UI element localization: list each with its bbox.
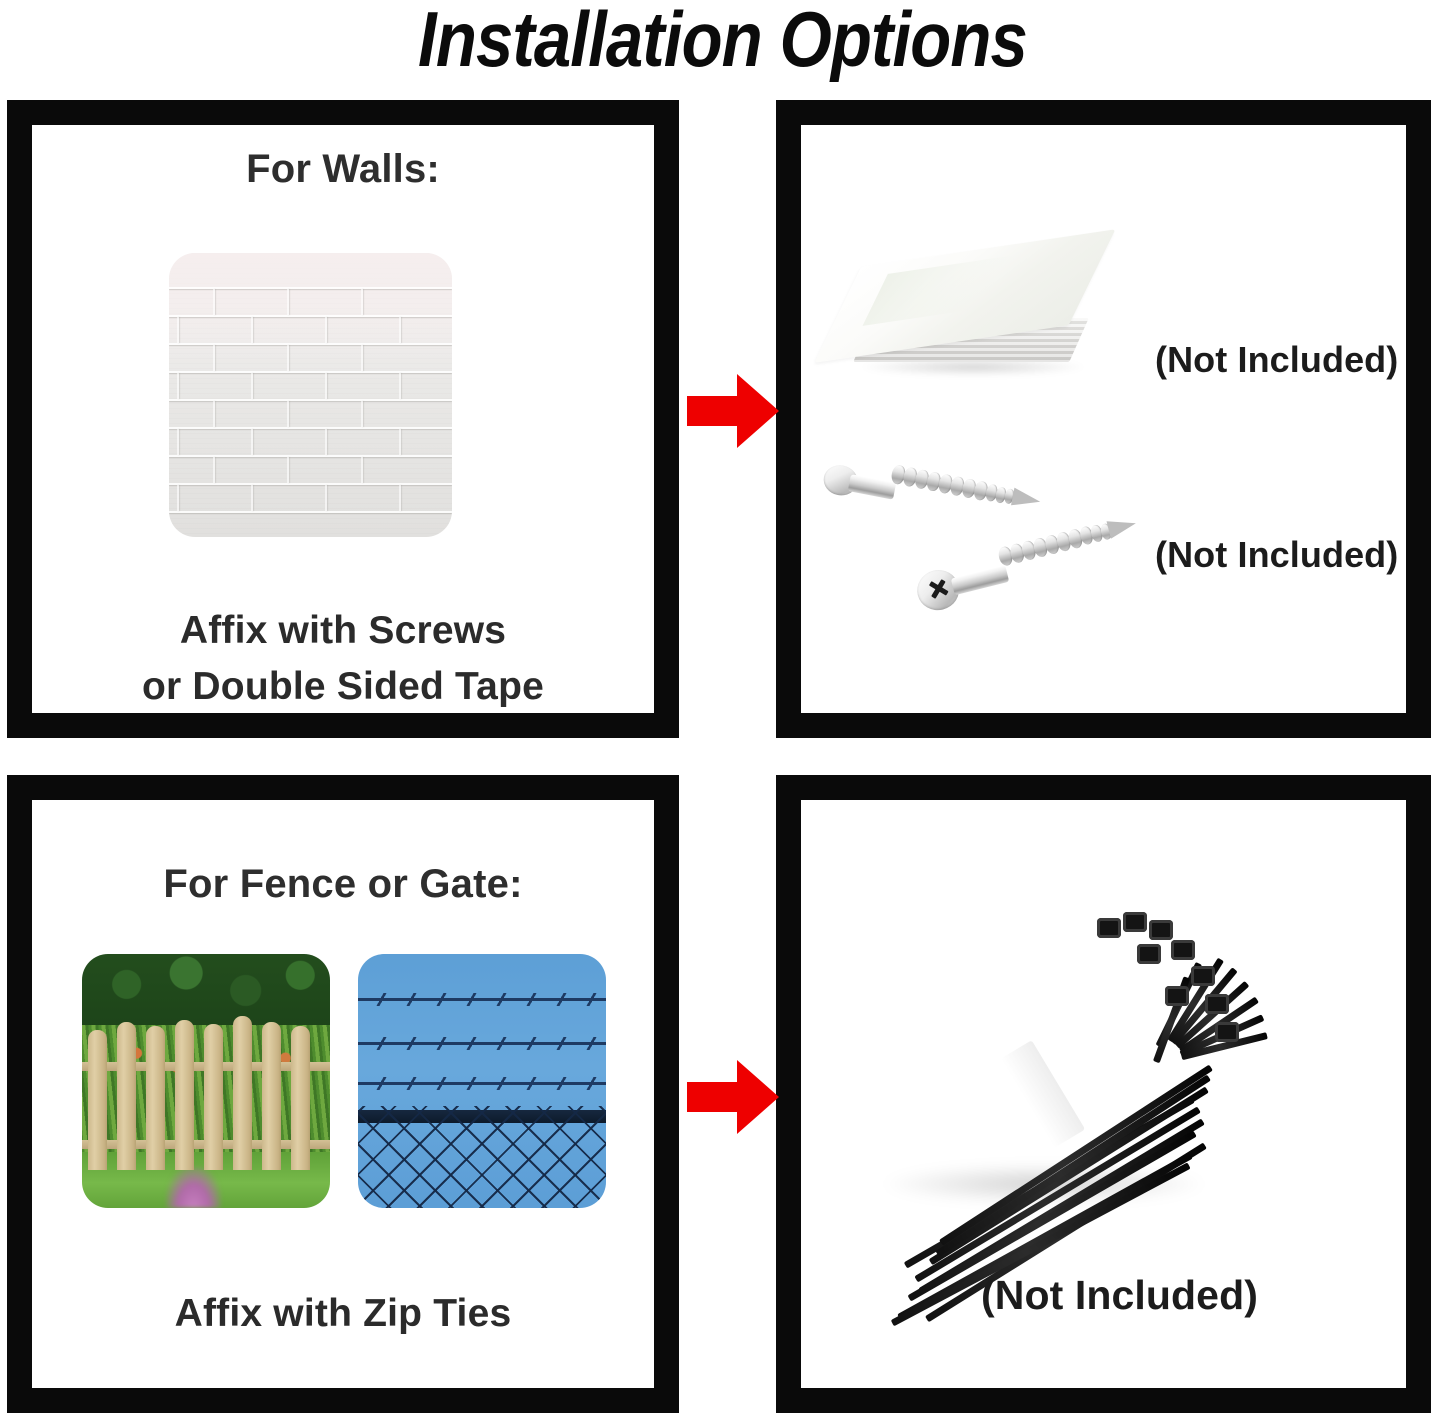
white-brick-wall-swatch <box>169 253 452 537</box>
screws-not-included-label: (Not Included) <box>1155 534 1398 576</box>
panel-hardware: (Not Included) <box>776 100 1431 738</box>
panel-zip-ties: (Not Included) <box>776 775 1431 1413</box>
wooden-picket-fence-photo <box>82 954 330 1208</box>
for-fence-heading: For Fence or Gate: <box>32 862 654 907</box>
black-zip-tie-bundle <box>839 896 1317 1282</box>
for-walls-heading: For Walls: <box>32 147 654 192</box>
double-sided-tape-stack <box>847 222 1107 402</box>
tape-not-included-label: (Not Included) <box>1155 339 1398 381</box>
panel-for-walls: For Walls: <box>7 100 679 738</box>
walls-caption-line2: or Double Sided Tape <box>32 659 654 713</box>
fence-caption: Affix with Zip Ties <box>32 1286 654 1341</box>
walls-caption-line1: Affix with Screws <box>32 603 654 658</box>
zipties-not-included-label: (Not Included) <box>981 1272 1258 1319</box>
panel-for-fence-or-gate: For Fence or Gate: <box>7 775 679 1413</box>
page-title: Installation Options <box>101 0 1344 83</box>
chain-link-barbed-wire-fence-photo <box>358 954 606 1208</box>
red-right-arrow-bottom <box>687 1060 779 1134</box>
red-right-arrow-top <box>687 374 779 448</box>
